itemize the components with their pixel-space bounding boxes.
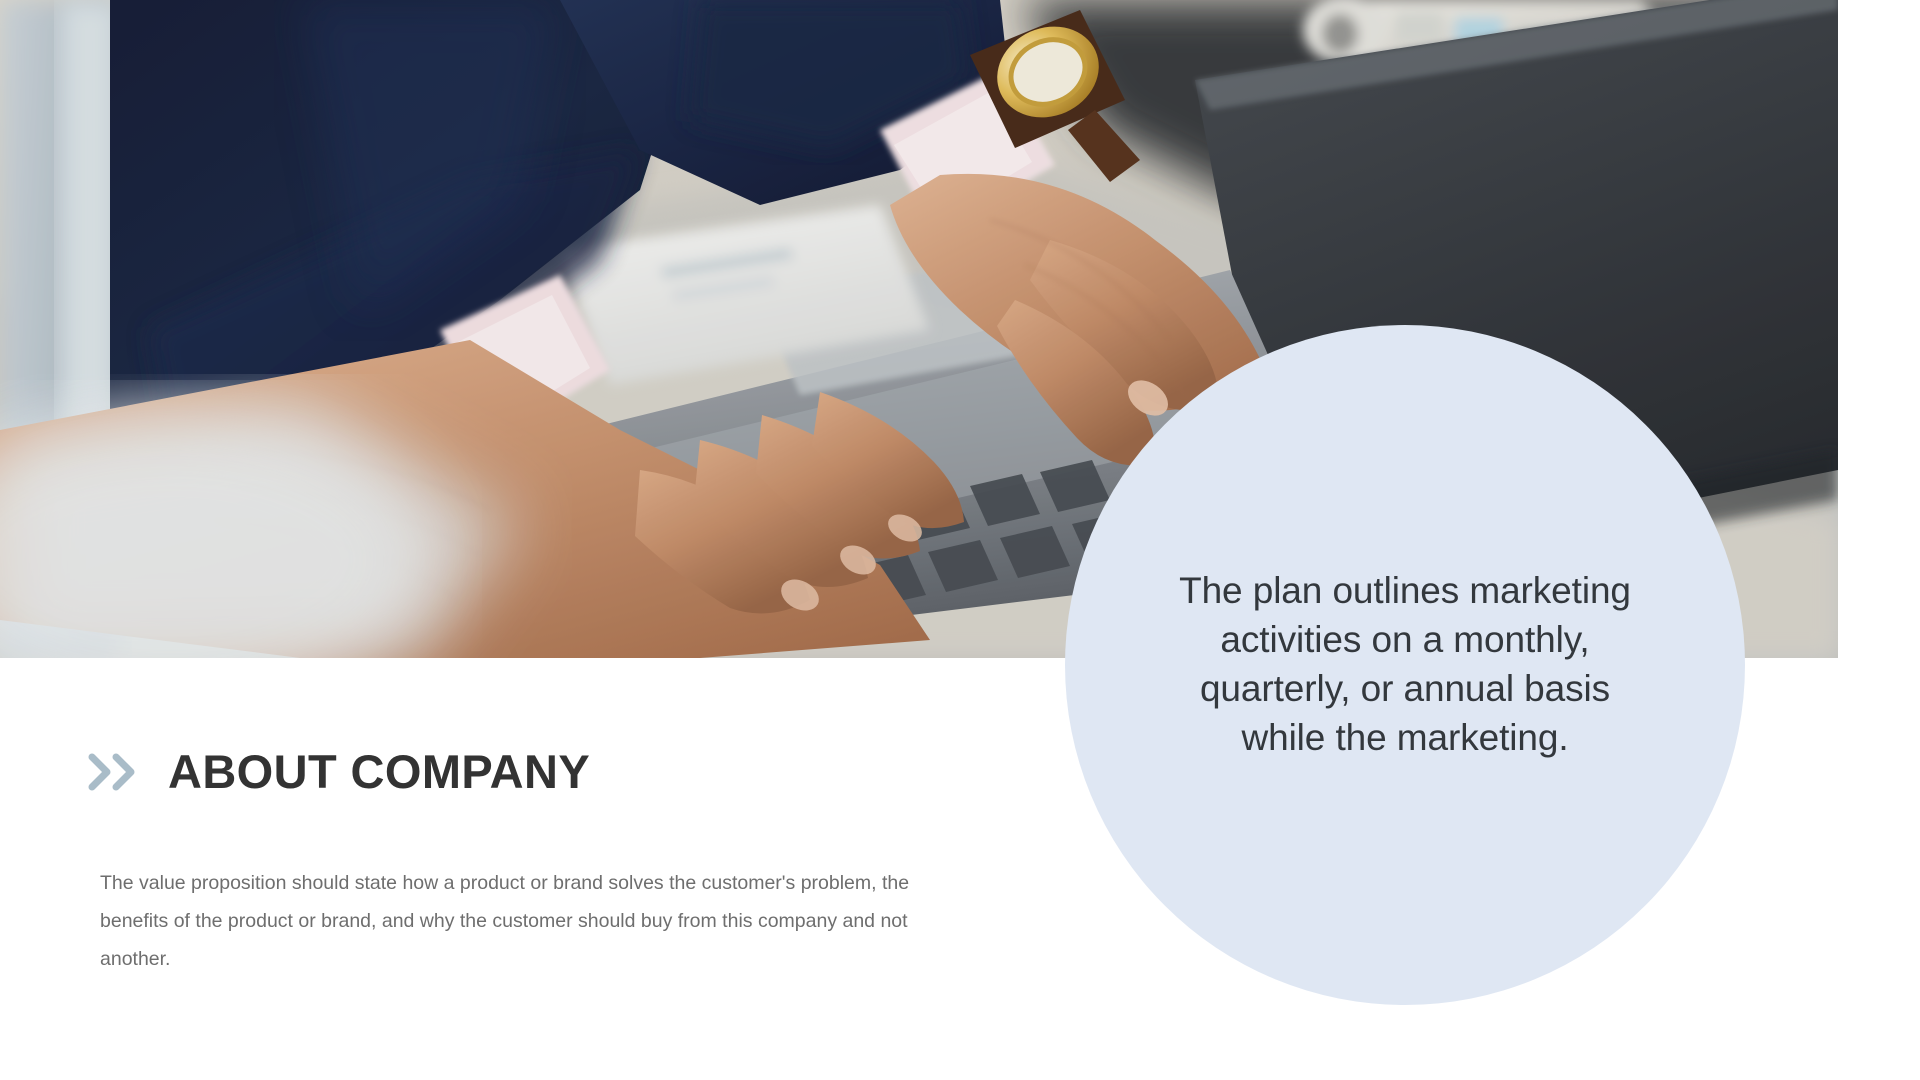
callout-text: The plan outlines marketing activities o…	[1175, 567, 1635, 762]
slide-canvas: O K L M N	[0, 0, 1920, 1080]
double-chevron-right-icon	[88, 751, 144, 793]
callout-circle: The plan outlines marketing activities o…	[1065, 325, 1745, 1005]
page-title: ABOUT COMPANY	[168, 748, 590, 795]
body-paragraph: The value proposition should state how a…	[100, 864, 980, 978]
section-heading: ABOUT COMPANY	[88, 748, 590, 795]
